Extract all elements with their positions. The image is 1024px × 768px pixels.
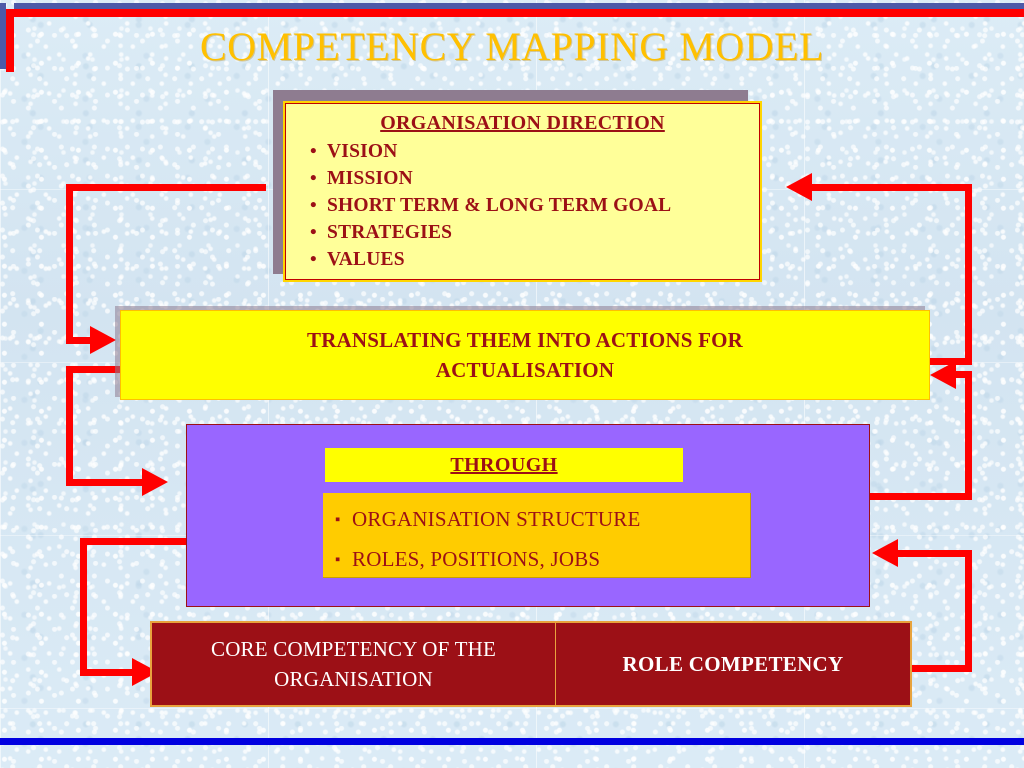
list-item: STRATEGIES <box>310 219 759 246</box>
page-title: COMPETENCY MAPPING MODEL <box>0 23 1024 70</box>
arrow-head-into-direction-box <box>786 173 812 201</box>
slide-canvas: COMPETENCY MAPPING MODEL ORGANISATION DI… <box>0 0 1024 768</box>
role-competency-box[interactable]: ROLE COMPETENCY <box>556 621 912 707</box>
role-competency-label: ROLE COMPETENCY <box>623 652 844 677</box>
list-item: ORGANISATION STRUCTURE <box>335 500 750 540</box>
connector-role-to-purple-horizontal-bottom <box>912 665 972 672</box>
connector-direction-to-translate-horizontal-top <box>66 184 266 191</box>
translate-line-1: TRANSLATING THEM INTO ACTIONS FOR <box>307 328 743 352</box>
connector-role-to-purple-vertical <box>965 550 972 672</box>
arrow-head-into-translate-box-right <box>930 361 956 389</box>
through-label: THROUGH <box>450 454 557 477</box>
direction-box-heading: ORGANISATION DIRECTION <box>286 112 759 135</box>
arrow-head-into-purple-box-right <box>872 539 898 567</box>
list-item: VISION <box>310 138 759 165</box>
list-item: MISSION <box>310 165 759 192</box>
structure-roles-list: ORGANISATION STRUCTURE ROLES, POSITIONS,… <box>335 500 750 580</box>
translate-box-text: TRANSLATING THEM INTO ACTIONS FOR ACTUAL… <box>307 325 743 385</box>
arrow-head-into-purple-box-left <box>142 468 168 496</box>
connector-purple-to-core-vertical <box>80 538 87 673</box>
structure-roles-gold-box[interactable]: ORGANISATION STRUCTURE ROLES, POSITIONS,… <box>323 493 751 578</box>
direction-box-list: VISION MISSION SHORT TERM & LONG TERM GO… <box>286 138 759 273</box>
connector-purple-to-translate-horizontal-bottom <box>868 493 972 500</box>
frame-top-red-stroke <box>14 9 1024 17</box>
arrow-head-into-translate-box <box>90 326 116 354</box>
translate-line-2: ACTUALISATION <box>436 358 614 382</box>
core-competency-box[interactable]: CORE COMPETENCY OF THE ORGANISATION <box>150 621 556 707</box>
list-item: ROLES, POSITIONS, JOBS <box>335 540 750 580</box>
connector-purple-to-translate-vertical <box>965 371 972 500</box>
frame-bottom-blue-stroke <box>0 738 1024 745</box>
connector-translate-to-direction-vertical <box>965 184 972 365</box>
list-item: SHORT TERM & LONG TERM GOAL <box>310 192 759 219</box>
connector-purple-to-core-horizontal-top <box>80 538 190 545</box>
connector-translate-to-direction-horizontal-top <box>812 184 972 191</box>
connector-translate-to-purple-vertical <box>66 366 73 486</box>
organisation-direction-box[interactable]: ORGANISATION DIRECTION VISION MISSION SH… <box>283 101 762 282</box>
core-competency-label: CORE COMPETENCY OF THE ORGANISATION <box>152 634 555 694</box>
connector-translate-to-purple-horizontal-bottom <box>66 479 146 486</box>
connector-role-to-purple-horizontal-top <box>898 550 972 557</box>
through-label-box[interactable]: THROUGH <box>325 448 683 482</box>
list-item: VALUES <box>310 246 759 273</box>
connector-direction-to-translate-vertical <box>66 184 73 344</box>
translating-actions-box[interactable]: TRANSLATING THEM INTO ACTIONS FOR ACTUAL… <box>120 310 930 400</box>
connector-purple-to-core-horizontal-bottom <box>80 669 136 676</box>
